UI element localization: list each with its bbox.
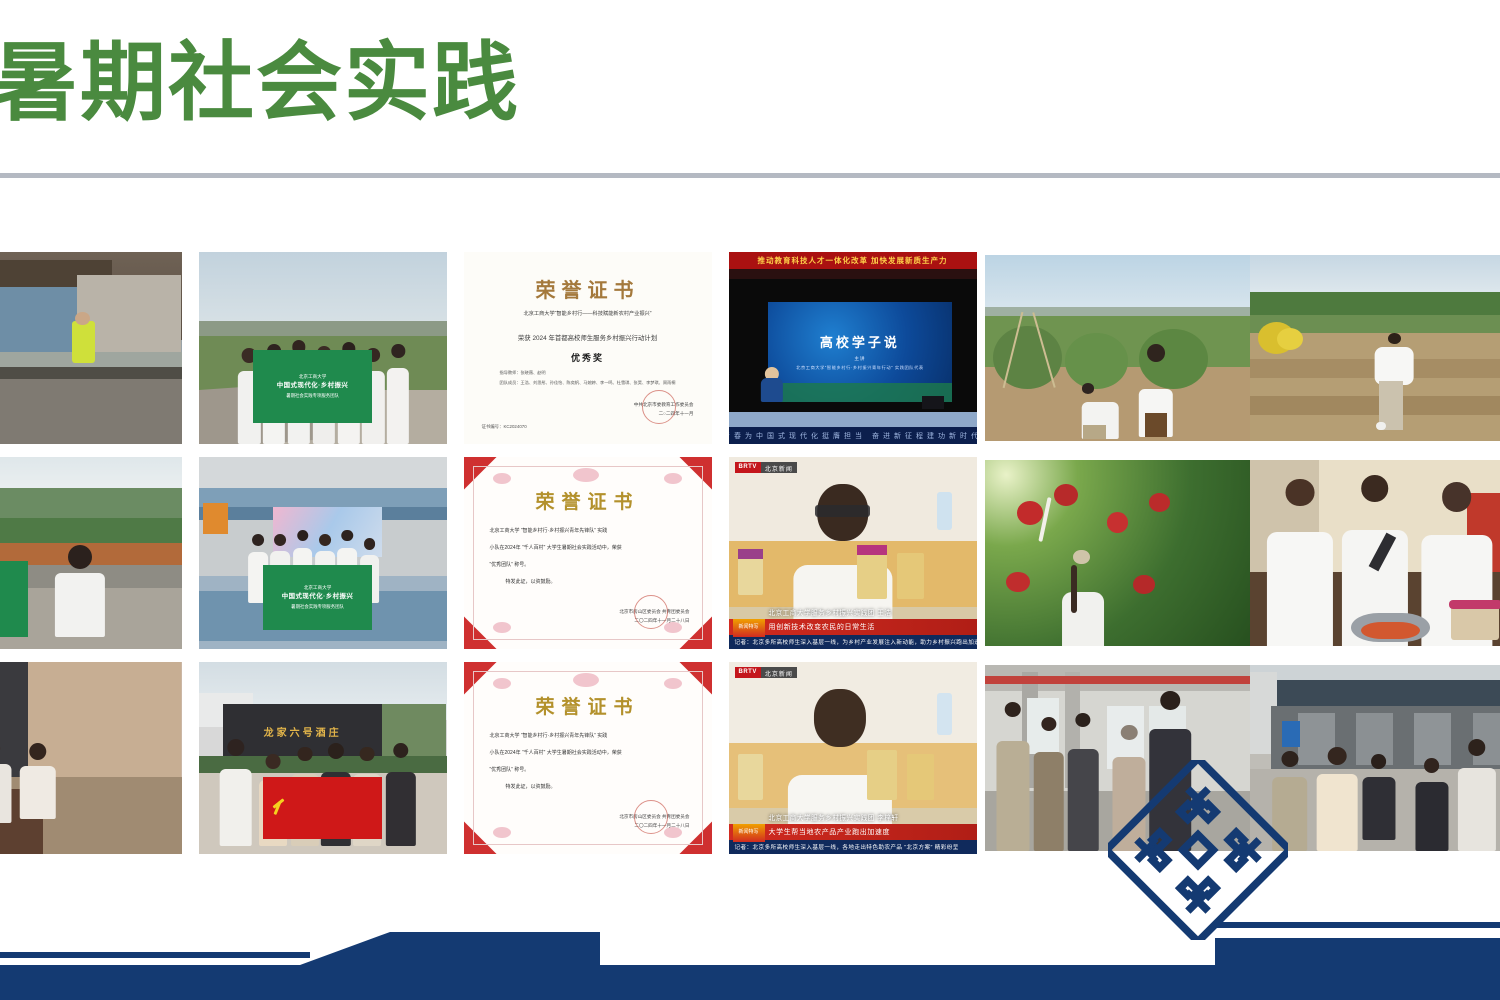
winery-sign-text: 龙家六号酒庄 — [264, 724, 342, 739]
certificate-seal-icon — [634, 595, 668, 629]
photo-winery-party-flag-group[interactable]: 龙家六号酒庄 酒庄前党旗合影 — [199, 662, 447, 854]
photo-field-hoeing[interactable]: 学生翻整田垄 — [1250, 255, 1500, 441]
banner-line-1: 北京工商大学 — [299, 373, 327, 381]
gallery-item[interactable]: BRTV 北京新闻 北京工商大学服务乡村振兴实践团 王浩 用创新技术改变农民的日… — [720, 457, 985, 649]
stage-screen-title: 高校学子说 — [820, 332, 900, 351]
certificate-line-2: 小队在2024年 “千人百村” 大学生暑期社会实践活动中，荣获 — [490, 540, 686, 557]
gallery-item[interactable]: 荣誉证书 北京工商大学“智能乡村行——科技赋能新农村产业振兴” 荣获 2024 … — [455, 252, 720, 444]
certificate-honor: 优秀奖 — [571, 351, 604, 364]
certificate-title: 荣誉证书 — [536, 274, 640, 303]
photo-tv-interview-2[interactable]: BRTV 北京新闻 北京工商大学服务乡村振兴实践团 李梓轩 大学生帮当地农产品产… — [729, 662, 977, 854]
gallery-item[interactable]: 北京工商大学 中国式现代化·乡村振兴 暑期社会实践专项服务团队 实践团队田间合影 — [190, 252, 455, 444]
tv-channel-sub: 北京新闻 — [761, 667, 797, 678]
photo-stage-presentation[interactable]: 推动教育科技人才一体化改革 加快发展新质生产力 高校学子说 主讲 北京工商大学“… — [729, 252, 977, 444]
banner-green: 北京工商大学 中国式现代化·乡村振兴 暑期社会实践专项服务团队 — [253, 350, 372, 423]
gallery-item[interactable]: 乡村道路清扫作业现场 — [0, 252, 190, 444]
tv-channel-name: BRTV — [735, 667, 761, 678]
party-flag — [263, 777, 382, 838]
tv-badge: 新闻特写 — [733, 619, 765, 637]
gallery-item[interactable]: 农家室内走访座谈 — [0, 662, 190, 854]
banner-line-3: 暑期社会实践专项服务团队 — [286, 392, 339, 399]
footer-left-rule — [0, 952, 310, 958]
tv-channel-logo: BRTV 北京新闻 — [735, 462, 797, 473]
meander-medallion-icon — [1108, 760, 1288, 940]
tv-lower-third: 北京工商大学服务乡村振兴实践团 李梓轩 大学生帮当地农产品产业跑出加速度 记者：… — [729, 810, 977, 854]
footer-band-right — [470, 938, 1500, 1000]
photo-honor-certificate-1[interactable]: 荣誉证书 北京工商大学“智能乡村行——科技赋能新农村产业振兴” 荣获 2024 … — [464, 252, 712, 444]
hall-banner: 推动教育科技人才一体化改革 加快发展新质生产力 — [729, 252, 977, 269]
hammer-sickle-icon — [271, 800, 291, 816]
certificate-line-2: 小队在2024年 “千人百村” 大学生暑期社会实践活动中，荣获 — [490, 745, 686, 762]
gallery-item[interactable]: 荣誉证书 北京工商大学 “智能乡村行·乡村振兴青年先锋队” 实践 小队在2024… — [455, 457, 720, 649]
photo-orchard-peach-picking[interactable]: 果园采摘桃子 — [985, 460, 1250, 646]
tv-ticker: 记者：北京多所高校师生深入基层一线，为乡村产业发展注入新动能，助力乡村振兴跑出加… — [729, 635, 977, 649]
page-title-text: 暑期社会实践 — [0, 40, 520, 126]
footer-band-left — [0, 932, 470, 1000]
photo-indoor-interview-room[interactable]: 农家室内走访座谈 — [0, 662, 182, 854]
photo-indoor-exhibition-group[interactable]: 北京工商大学 中国式现代化·乡村振兴 暑期社会实践专项服务团队 展馆内实践团队合… — [199, 457, 447, 649]
footer-band-center — [470, 932, 600, 1000]
certificate-subtitle: 北京工商大学“智能乡村行——科技赋能新农村产业振兴” — [482, 310, 694, 320]
photo-group-green-banner-outdoor[interactable]: 北京工商大学 中国式现代化·乡村振兴 暑期社会实践专项服务团队 实践团队田间合影 — [199, 252, 447, 444]
photo-honor-certificate-2[interactable]: 荣誉证书 北京工商大学 “智能乡村行·乡村振兴青年先锋队” 实践 小队在2024… — [464, 457, 712, 649]
gallery-item[interactable]: BRTV 北京新闻 北京工商大学服务乡村振兴实践团 李梓轩 大学生帮当地农产品产… — [720, 662, 985, 854]
banner-line-1: 北京工商大学 — [304, 584, 332, 592]
certificate-detail-2: 团队成员：王浩、刘思彤、孙佳怡、陈奕帆、马婉婷、李一鸣、杜雪琪、张昊、李梦琪、周… — [482, 379, 694, 388]
certificate-line-3: “优秀团队” 称号。 — [490, 557, 686, 574]
certificate-seal-icon — [642, 390, 676, 424]
certificate-award-line: 荣获 2024 年首都高校师生服务乡村振兴行动计划 — [482, 333, 694, 345]
certificate-title: 荣誉证书 — [464, 692, 712, 719]
certificate-line-4: 特发此证，以资鼓励。 — [490, 779, 686, 796]
flower-ornament-icon — [573, 468, 599, 482]
tv-headline: 用创新技术改变农民的日常生活 — [729, 619, 977, 635]
gallery-item[interactable]: 推动教育科技人才一体化改革 加快发展新质生产力 高校学子说 主讲 北京工商大学“… — [720, 252, 985, 444]
banner-line-2: 中国式现代化·乡村振兴 — [277, 381, 349, 392]
banner-green: 乡村行 社会实践团 — [0, 561, 28, 638]
photo-village-green-flag[interactable]: 乡村行 社会实践团 服务团成员与绿色旗帜合影 — [0, 457, 182, 649]
tv-channel-sub: 北京新闻 — [761, 462, 797, 473]
certificate-line-1: 北京工商大学 “智能乡村行·乡村振兴青年先锋队” 实践 — [490, 523, 686, 540]
photo-field-pruning[interactable]: 学生田间劳作修剪枝条 — [985, 255, 1250, 441]
flower-ornament-icon — [664, 678, 682, 689]
certificate-line-3: “优秀团队” 称号。 — [490, 762, 686, 779]
tv-headline: 大学生帮当地农产品产业跑出加速度 — [729, 824, 977, 840]
glasses-icon — [815, 505, 870, 517]
certificate-line-1: 北京工商大学 “智能乡村行·乡村振兴青年先锋队” 实践 — [490, 728, 686, 745]
stage-screen-sub1: 主讲 — [854, 356, 865, 362]
photo-tv-interview-1[interactable]: BRTV 北京新闻 北京工商大学服务乡村振兴实践团 王浩 用创新技术改变农民的日… — [729, 457, 977, 649]
gallery-item[interactable]: 龙家六号酒庄 酒庄前党旗合影 — [190, 662, 455, 854]
stage-footer-text: 青春为中国式现代化挺膺担当 奋进新征程建功新时代 — [729, 427, 977, 444]
gallery-item[interactable]: 乡村行 社会实践团 服务团成员与绿色旗帜合影 — [0, 457, 190, 649]
tv-channel-logo: BRTV 北京新闻 — [735, 667, 797, 678]
certificate-detail-1: 指导教师：张晓薇、赵明 — [482, 369, 694, 378]
tv-guest-name: 北京工商大学服务乡村振兴实践团 王浩 — [729, 605, 977, 619]
photo-honor-certificate-3[interactable]: 荣誉证书 北京工商大学 “智能乡村行·乡村振兴青年先锋队” 实践 小队在2024… — [464, 662, 712, 854]
flower-ornament-icon — [573, 673, 599, 687]
certificate-number: 证书编号：KC2024070 — [482, 424, 527, 430]
banner-line-2: 中国式现代化·乡村振兴 — [282, 592, 354, 603]
banner-green: 北京工商大学 中国式现代化·乡村振兴 暑期社会实践专项服务团队 — [263, 565, 372, 630]
tv-badge: 新闻特写 — [733, 824, 765, 842]
tv-lower-third: 北京工商大学服务乡村振兴实践团 王浩 用创新技术改变农民的日常生活 记者：北京多… — [729, 605, 977, 649]
tv-ticker: 记者：北京多所高校师生深入基层一线，各地走出特色助农产品 “北京方案” 精彩纷呈 — [729, 840, 977, 854]
certificate-seal-icon — [634, 800, 668, 834]
gallery-item[interactable]: 荣誉证书 北京工商大学 “智能乡村行·乡村振兴青年先锋队” 实践 小队在2024… — [455, 662, 720, 854]
certificate-title: 荣誉证书 — [464, 487, 712, 514]
gallery-item[interactable]: 果园采摘桃子 — [985, 457, 1250, 649]
photo-indoor-food-prep[interactable]: 学生处理农产品制作 — [1250, 460, 1500, 646]
tv-channel-name: BRTV — [735, 462, 761, 473]
slide-root: 暑期社会实践 乡村道路清扫作业现场 — [0, 0, 1500, 1000]
banner-line-3: 暑期社会实践专项服务团队 — [291, 603, 344, 610]
photo-village-street-cleaning[interactable]: 乡村道路清扫作业现场 — [0, 252, 182, 444]
flower-ornament-icon — [664, 473, 682, 484]
title-divider — [0, 173, 1500, 178]
tv-guest-name: 北京工商大学服务乡村振兴实践团 李梓轩 — [729, 810, 977, 824]
gallery-item[interactable]: 学生处理农产品制作 — [1250, 457, 1500, 649]
stage-screen-sub2: 北京工商大学“智能乡村行·乡村振兴青年行动” 实践团队代表 — [796, 365, 923, 371]
gallery-item[interactable]: 北京工商大学 中国式现代化·乡村振兴 暑期社会实践专项服务团队 展馆内实践团队合… — [190, 457, 455, 649]
gallery-item[interactable]: 学生翻整田垄 — [1250, 252, 1500, 444]
gallery-item[interactable]: 学生田间劳作修剪枝条 — [985, 252, 1250, 444]
certificate-line-4: 特发此证，以资鼓励。 — [490, 574, 686, 591]
page-title: 暑期社会实践 — [0, 28, 692, 138]
